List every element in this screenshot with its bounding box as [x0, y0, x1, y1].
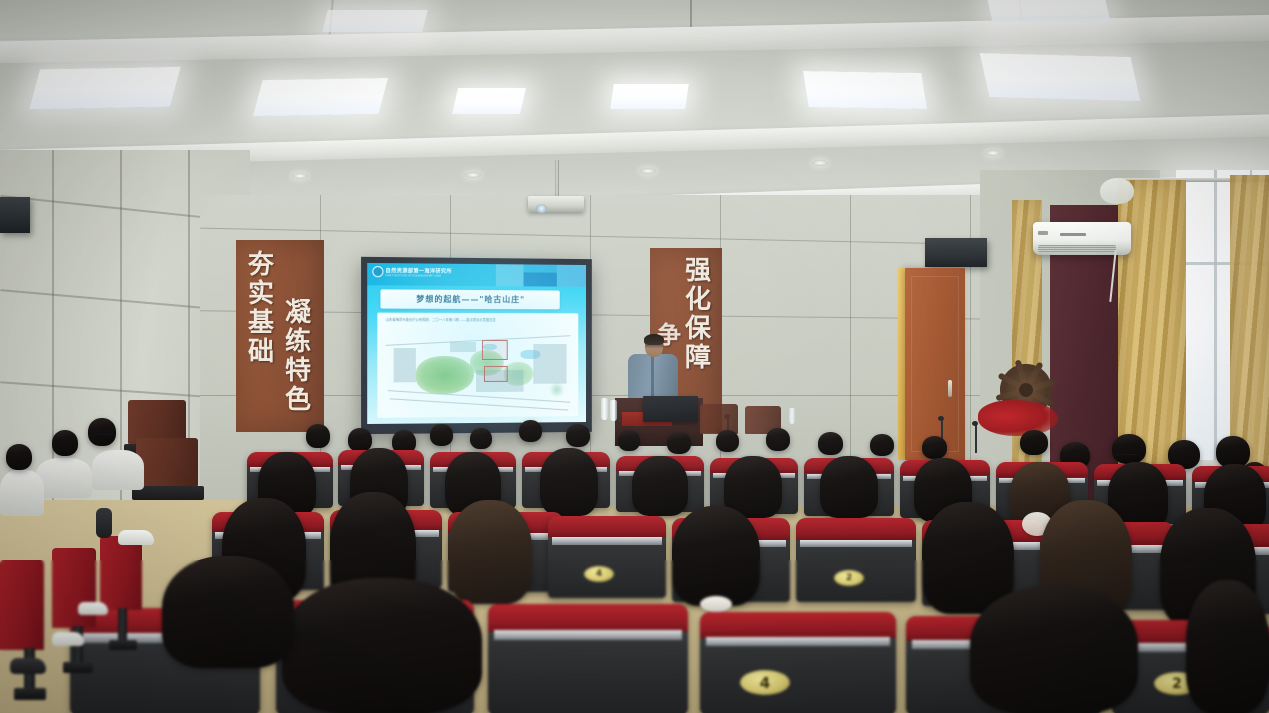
presenter-hair [644, 334, 664, 345]
eyeglasses [98, 434, 114, 437]
audience-head [818, 432, 843, 455]
audience-head [766, 428, 790, 451]
audience-head [1186, 580, 1269, 713]
projector-lens [536, 204, 547, 213]
slide-content: 自然资源部第一海洋研究所 FIRST INSTITUTE OF OCEANOGR… [367, 263, 586, 424]
institute-logo-icon [372, 266, 383, 277]
audience-head [922, 436, 947, 459]
seat-base-foot [63, 662, 93, 673]
ceiling-panel-light [610, 84, 689, 109]
audience-head [1020, 430, 1048, 455]
water-bottle [610, 400, 617, 421]
eyeglasses [1116, 454, 1138, 457]
seat-number-plate: 4 [740, 670, 790, 695]
door-panel-seam [911, 276, 959, 452]
slide-header-block [557, 265, 586, 287]
window-mullion [1214, 170, 1217, 460]
left-wall-banner: 夯实基础 凝练特色 [236, 240, 324, 432]
audience-head [470, 428, 492, 449]
auditorium-seat[interactable]: 4 [700, 612, 896, 713]
wooden-chair-back[interactable] [136, 438, 198, 486]
water-bottle [601, 398, 608, 420]
wall-speaker-right [925, 238, 987, 267]
auditorium-photo: 夯实基础 凝练特色 强化保障 争 [0, 0, 1269, 713]
slide-org-name-en: FIRST INSTITUTE OF OCEANOGRAPHY, MNR [386, 274, 452, 278]
slide-title: 梦想的起航——"哈古山庄" [416, 294, 525, 306]
audience-head [430, 424, 453, 446]
microphone-stand [975, 425, 977, 453]
audience-head [870, 434, 894, 456]
seat-base-foot [14, 688, 46, 700]
ceiling-panel-light [253, 78, 388, 116]
site-plan-compass [549, 382, 565, 398]
ceiling-panel-light [452, 88, 526, 114]
audience-head [618, 430, 640, 451]
seat-side-panel [100, 536, 142, 610]
auditorium-seat[interactable] [488, 604, 688, 713]
audience-head [540, 448, 598, 516]
audience-shoulders [0, 470, 44, 516]
audience-head [970, 586, 1138, 713]
audience-head [672, 506, 760, 606]
audience-head [88, 418, 116, 446]
slide-body: 山东省海洋与渔业厅公布规划：二〇一八年第八期 ——重点项目示意图总览 [377, 313, 578, 418]
student-shoe [118, 530, 154, 545]
audience-head [52, 430, 78, 456]
audience-shoulders [92, 450, 144, 490]
seat-pedestal-leg [118, 608, 127, 644]
audience-shoulders [36, 458, 92, 498]
audience-head [6, 444, 32, 470]
ceiling-downlight [812, 160, 828, 166]
student-shoe [78, 602, 108, 615]
audience-head [716, 430, 739, 452]
ceiling-panel-light [987, 0, 1110, 22]
ceiling-panel-light [980, 53, 1141, 101]
audience-head [1112, 434, 1146, 464]
left-banner-line-2: 凝练特色 [282, 298, 309, 414]
student-shoe [10, 658, 46, 674]
ceiling-panel-light [803, 71, 927, 109]
red-flower-arrangement [978, 400, 1058, 436]
microphone-head [938, 416, 944, 421]
audience-head [306, 424, 330, 448]
curtain-far-right[interactable] [1230, 175, 1269, 475]
projection-screen[interactable]: 自然资源部第一海洋研究所 FIRST INSTITUTE OF OCEANOGR… [361, 257, 592, 434]
audience-head [282, 578, 482, 713]
left-banner-line-1: 夯实基础 [245, 250, 272, 366]
slide-title-ribbon: 梦想的起航——"哈古山庄" [380, 289, 559, 309]
slide-header-block [524, 272, 557, 286]
audience-head [632, 456, 688, 516]
auditorium-seat[interactable]: 4 [548, 516, 666, 598]
ac-indicator-lights [1038, 231, 1048, 235]
audience-head [519, 420, 542, 442]
ceiling-downlight [985, 150, 1001, 156]
audience-head [667, 432, 691, 454]
auditorium-seat[interactable]: 2 [796, 518, 916, 602]
curtain-valance-knot [1100, 178, 1134, 204]
ceiling-downlight [292, 173, 308, 179]
student-leg [96, 508, 112, 538]
slide-header-block [496, 264, 524, 286]
audience-head [448, 500, 532, 604]
ships-wheel-decor [978, 358, 1073, 436]
wooden-chair-back[interactable] [700, 404, 738, 434]
ceiling-downlight [640, 168, 656, 174]
ac-brand-logo [1060, 233, 1086, 236]
seat-number-plate: 2 [834, 570, 864, 586]
ceiling-downlight [465, 172, 481, 178]
slide-org-badge: 自然资源部第一海洋研究所 FIRST INSTITUTE OF OCEANOGR… [372, 266, 452, 278]
seat-base-foot [109, 640, 137, 650]
slide-org-name-cn: 自然资源部第一海洋研究所 [386, 267, 452, 275]
seat-number-plate: 4 [584, 566, 614, 582]
audience-head [820, 456, 878, 518]
ac-vent-grill [1038, 245, 1116, 252]
ceiling-panel-light [322, 10, 427, 32]
hair-tie [700, 596, 732, 612]
audience-head [566, 424, 590, 447]
ceiling-panel-light [29, 67, 180, 109]
door-handle[interactable] [948, 380, 952, 397]
wall-speaker-left [0, 197, 30, 233]
slide-caption: 山东省海洋与渔业厅公布规划：二〇一八年第八期 ——重点项目示意图总览 [386, 317, 496, 322]
right-banner-line-1: 强化保障 [682, 256, 709, 372]
student-shoe [52, 632, 84, 646]
seat-side-panel [52, 548, 96, 628]
seat-side-panel [0, 560, 44, 650]
projector-mount-pole [555, 160, 559, 198]
presenter-laptop[interactable] [643, 396, 698, 422]
audience-head [162, 556, 294, 668]
water-bottle [789, 408, 795, 424]
door[interactable] [905, 268, 965, 460]
site-plan-map [383, 326, 572, 412]
